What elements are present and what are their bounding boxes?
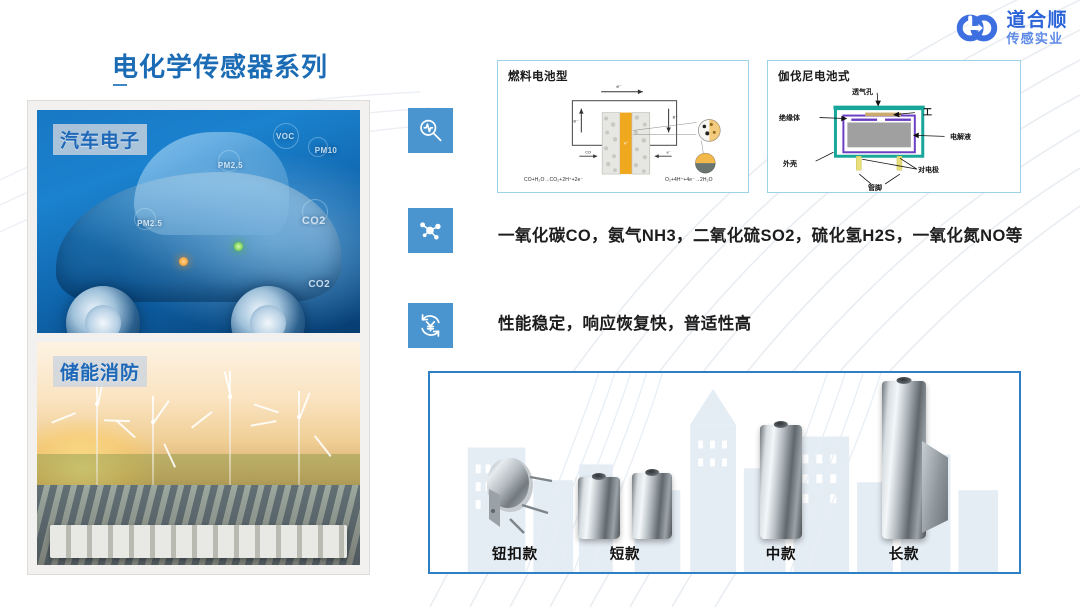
product-caption: 钮扣款	[492, 543, 538, 564]
svg-text:+: +	[624, 131, 626, 135]
label-working-electrode: 工	[923, 105, 932, 118]
button-sensor-image	[472, 443, 558, 539]
product-long-type: 长款	[882, 371, 926, 564]
svg-text:CO: CO	[585, 149, 591, 154]
svg-text:e⁻: e⁻	[673, 116, 679, 121]
fuel-cell-equation-cathode: O₂+4H⁺+4e⁻→2H₂O	[665, 177, 713, 183]
svg-text:e⁻: e⁻	[667, 149, 671, 154]
medium-sensor	[760, 425, 802, 539]
wind-turbine	[215, 371, 245, 491]
automotive-electronics-photo: VOC PM10 PM2.5 PM2.5 CO2 CO2 汽车电子	[37, 110, 360, 333]
svg-text:+: +	[624, 167, 626, 171]
logo-brand-sub: 传感实业	[1006, 32, 1068, 45]
svg-text:+: +	[624, 120, 626, 124]
sensor-tag-pm25: PM2.5	[218, 161, 243, 170]
page-title: 电化学传感器系列	[112, 47, 328, 84]
label-shell: 外壳	[783, 159, 797, 169]
short-sensor-pair	[578, 443, 672, 539]
application-photos-panel: VOC PM10 PM2.5 PM2.5 CO2 CO2 汽车电子	[27, 100, 370, 575]
fuel-cell-equation-anode: CO+H₂O→CO₂+2H⁺+2e⁻	[524, 177, 583, 183]
fuel-cell-diagram-art: e⁻ e⁻ e⁻ ++ ++ + H⁺ CO	[498, 61, 748, 193]
magnifier-pulse-icon	[408, 108, 453, 153]
title-underline-accent	[113, 84, 127, 86]
battery-storage-units	[50, 525, 347, 558]
wind-turbine	[82, 378, 112, 490]
hotspot-dot-green	[234, 242, 243, 251]
interlocking-rings-logo-icon	[955, 8, 999, 48]
logo-brand-name: 道合顺	[1006, 11, 1068, 30]
wind-turbine	[140, 396, 166, 490]
sensor-tag-co2: CO2	[302, 215, 326, 227]
label-pins: 管脚	[868, 183, 882, 193]
product-button-type: 钮扣款	[472, 443, 558, 564]
energy-photo-label: 储能消防	[53, 356, 147, 387]
svg-text:e⁻: e⁻	[616, 85, 622, 90]
label-insulator: 绝缘体	[779, 113, 800, 123]
fuel-cell-diagram: 燃料电池型 e⁻ e⁻ e⁻ ++ ++	[497, 60, 749, 193]
molecule-icon	[408, 208, 453, 253]
sensor-tag-pm25-b: PM2.5	[137, 219, 162, 228]
sensor-tag-pm10: PM10	[315, 146, 338, 155]
product-caption: 中款	[766, 543, 797, 564]
short-sensor-b	[632, 473, 672, 539]
long-sensor	[882, 381, 926, 539]
product-caption: 短款	[610, 543, 641, 564]
automotive-photo-label: 汽车电子	[53, 124, 147, 155]
svg-text:e⁻: e⁻	[573, 120, 579, 125]
gas-types-text: 一氧化碳CO，氨气NH3，二氧化硫SO2，硫化氢H2S，一氧化氮NO等	[498, 222, 1023, 246]
short-sensor-a	[578, 477, 620, 539]
brand-logo: 道合顺 传感实业	[955, 8, 1068, 48]
product-showcase-panel: 钮扣款 短款 中款 长款	[428, 371, 1021, 574]
label-vent-hole: 透气孔	[852, 87, 873, 97]
label-electrolyte: 电解液	[950, 132, 971, 142]
product-medium-type: 中款	[760, 411, 802, 564]
product-caption: 长款	[889, 543, 920, 564]
galvanic-cell-diagram: 伽伐尼电池式	[767, 60, 1021, 193]
yuan-cycle-icon	[408, 303, 453, 348]
svg-text:H⁺: H⁺	[624, 141, 629, 145]
product-short-type: 短款	[578, 443, 672, 564]
energy-storage-photo: 储能消防	[37, 342, 360, 565]
label-counter-electrode: 对电极	[918, 165, 939, 175]
galvanic-cell-diagram-art	[768, 61, 1020, 193]
svg-text:+: +	[624, 155, 626, 159]
sensor-tag-voc: VOC	[276, 132, 295, 141]
performance-text: 性能稳定，响应恢复快，普适性高	[498, 310, 752, 334]
wind-turbine	[286, 391, 312, 489]
sensor-tag-co2-b: CO2	[308, 279, 330, 290]
